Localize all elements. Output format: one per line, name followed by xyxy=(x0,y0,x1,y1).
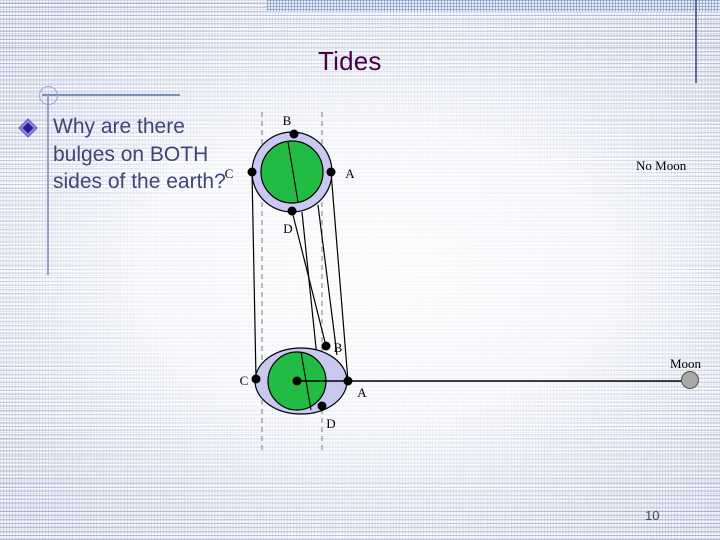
bottom-label-d: D xyxy=(326,416,335,431)
top-water-layer xyxy=(252,132,332,212)
page-title: Tides xyxy=(318,46,382,77)
bottom-point-b xyxy=(322,342,331,351)
background-grid xyxy=(0,0,720,540)
bottom-point-d xyxy=(318,402,327,411)
connector-inner xyxy=(318,205,337,355)
connector-lines xyxy=(252,172,348,406)
top-earth-group: B C A D xyxy=(225,113,356,236)
right-vertical-rule xyxy=(695,0,697,83)
connector-d2 xyxy=(302,212,322,406)
connector-c xyxy=(252,172,256,379)
tidal-bulge-diagram: B C A D No Moon B C A D Moon xyxy=(0,0,720,540)
bullet-text: Why are there bulges on BOTH sides of th… xyxy=(53,113,231,196)
moon-body xyxy=(682,372,699,389)
background-grid-major xyxy=(0,0,720,540)
guide-lines xyxy=(262,112,322,452)
bottom-point-a xyxy=(344,377,353,386)
top-earth-meridian xyxy=(288,142,298,202)
connector-d-to-b xyxy=(292,211,326,346)
page-number: 10 xyxy=(645,508,659,523)
top-earth-body xyxy=(261,141,323,203)
bottom-label-b: B xyxy=(334,340,343,355)
bullet-horizontal-rule xyxy=(42,94,180,96)
bottom-earth-group: B C A D xyxy=(240,340,368,431)
bottom-label-a: A xyxy=(357,385,367,400)
bottom-point-c xyxy=(252,375,261,384)
bullet-vertical-rule xyxy=(47,95,49,275)
slide-canvas: Tides Why are there bulges on BOTH sides… xyxy=(0,0,720,540)
top-decoration-band xyxy=(267,0,720,12)
no-moon-caption: No Moon xyxy=(636,158,687,173)
rule-corner-circle-icon xyxy=(39,86,58,105)
top-point-a xyxy=(327,168,336,177)
bottom-water-bulge xyxy=(255,348,347,414)
top-label-b: B xyxy=(283,113,292,128)
bottom-earth-body xyxy=(268,352,326,410)
top-label-d: D xyxy=(283,221,292,236)
bottom-earth-meridian xyxy=(301,352,311,410)
diamond-bullet-icon xyxy=(18,118,38,138)
top-label-a: A xyxy=(345,166,355,181)
top-point-c xyxy=(248,168,257,177)
connector-a xyxy=(331,172,348,381)
bottom-earth-center xyxy=(293,377,302,386)
top-point-d xyxy=(288,207,297,216)
moon-caption: Moon xyxy=(670,356,702,371)
bottom-label-c: C xyxy=(240,373,249,388)
top-point-b xyxy=(290,130,299,139)
background-fade-overlay xyxy=(0,0,720,540)
